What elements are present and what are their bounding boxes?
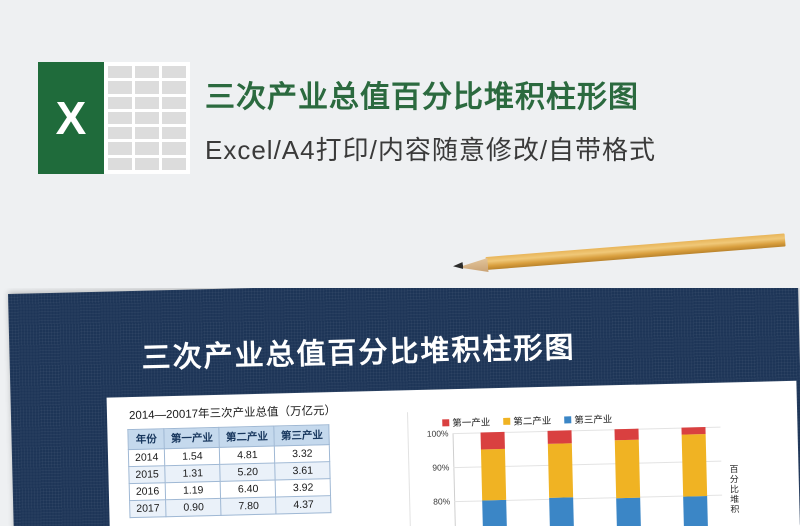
table-cell: 0.90 bbox=[166, 498, 221, 516]
legend-label-series2: 第二产业 bbox=[513, 413, 551, 428]
chart-bar bbox=[681, 427, 708, 526]
legend-item-series3: 第三产业 bbox=[564, 411, 612, 426]
table-cell: 3.32 bbox=[275, 445, 330, 463]
chart-bar-segment bbox=[547, 430, 571, 444]
data-table: 年份 第一产业 第二产业 第三产业 2014 1.54 4.81 3.32 20… bbox=[127, 424, 331, 518]
table-cell: 3.61 bbox=[275, 462, 330, 480]
table-cell: 5.20 bbox=[220, 463, 275, 481]
stacked-column-chart: 第一产业 第二产业 第三产业 100% bbox=[407, 403, 783, 526]
table-cell-year: 2016 bbox=[129, 483, 166, 501]
sheet-caption: 2014—20017年三次产业总值（万亿元） bbox=[129, 402, 336, 423]
chart-bar-segment bbox=[549, 497, 574, 526]
banner-title: 三次产业总值百分比堆积柱形图 bbox=[205, 72, 639, 116]
pencil-decoration bbox=[440, 246, 790, 286]
table-cell: 3.92 bbox=[275, 479, 330, 497]
excel-logo-letter: X bbox=[56, 95, 87, 141]
chart-bar-segment bbox=[614, 429, 638, 440]
chart-ytick-label: 90% bbox=[415, 462, 453, 473]
table-cell: 4.37 bbox=[276, 496, 331, 514]
chart-bar-segment bbox=[681, 434, 707, 497]
document-title: 三次产业总值百分比堆积柱形图 bbox=[141, 324, 576, 377]
table-header-cell: 年份 bbox=[128, 429, 165, 450]
chart-bar bbox=[480, 432, 507, 526]
table-cell-year: 2017 bbox=[130, 500, 167, 518]
table-header-cell: 第一产业 bbox=[164, 427, 219, 448]
chart-bar-segment bbox=[616, 497, 641, 526]
banner-subtitle: Excel/A4打印/内容随意修改/自带格式 bbox=[205, 130, 656, 167]
table-cell-year: 2015 bbox=[129, 466, 166, 484]
spreadsheet-area: 2014—20017年三次产业总值（万亿元） 年份 第一产业 第二产业 第三产业… bbox=[107, 381, 800, 526]
chart-bar-segment bbox=[547, 444, 572, 498]
chart-plot-area: 100% 90% 80% bbox=[453, 427, 723, 526]
chart-bar-segment bbox=[482, 500, 507, 526]
table-cell: 1.54 bbox=[165, 447, 220, 465]
table-cell: 6.40 bbox=[221, 480, 276, 498]
table-cell: 7.80 bbox=[221, 497, 276, 515]
excel-logo: X bbox=[38, 62, 190, 174]
chart-bar-segment bbox=[480, 448, 505, 500]
chart-bar-segment bbox=[480, 432, 504, 449]
legend-swatch-series2 bbox=[503, 417, 510, 424]
legend-item-series2: 第二产业 bbox=[503, 413, 551, 428]
legend-swatch-series3 bbox=[564, 416, 571, 423]
chart-bar-segment bbox=[683, 496, 708, 526]
chart-bar bbox=[547, 430, 574, 526]
table-cell: 1.19 bbox=[166, 481, 221, 499]
excel-logo-badge: X bbox=[38, 62, 104, 174]
chart-side-label: 百分比堆积 bbox=[727, 464, 741, 514]
document-page: 三次产业总值百分比堆积柱形图 2014—20017年三次产业总值（万亿元） 年份… bbox=[8, 288, 800, 526]
chart-y-axis bbox=[453, 433, 457, 526]
table-cell: 1.31 bbox=[165, 464, 220, 482]
chart-bar bbox=[614, 429, 641, 526]
table-row: 2017 0.90 7.80 4.37 bbox=[130, 496, 332, 518]
legend-label-series3: 第三产业 bbox=[574, 411, 612, 426]
chart-ytick-label: 80% bbox=[416, 496, 454, 507]
chart-ytick-label: 100% bbox=[414, 428, 452, 439]
legend-label-series1: 第一产业 bbox=[452, 414, 490, 429]
table-header-cell: 第三产业 bbox=[274, 425, 329, 446]
document-preview: 三次产业总值百分比堆积柱形图 2014—20017年三次产业总值（万亿元） 年份… bbox=[0, 288, 800, 526]
legend-swatch-series1 bbox=[442, 419, 449, 426]
table-cell-year: 2014 bbox=[128, 449, 165, 467]
chart-bar-segment bbox=[681, 427, 705, 435]
legend-item-series1: 第一产业 bbox=[442, 414, 490, 429]
chart-legend: 第一产业 第二产业 第三产业 bbox=[442, 411, 612, 429]
promo-banner: X 三次产业总值百分比堆积柱形图 Excel/A4打印/内容随意修改/自带格式 bbox=[0, 0, 800, 288]
chart-bar-segment bbox=[614, 439, 639, 498]
spreadsheet-grid-icon bbox=[104, 62, 190, 174]
table-cell: 4.81 bbox=[220, 446, 275, 464]
table-header-cell: 第二产业 bbox=[219, 426, 274, 447]
